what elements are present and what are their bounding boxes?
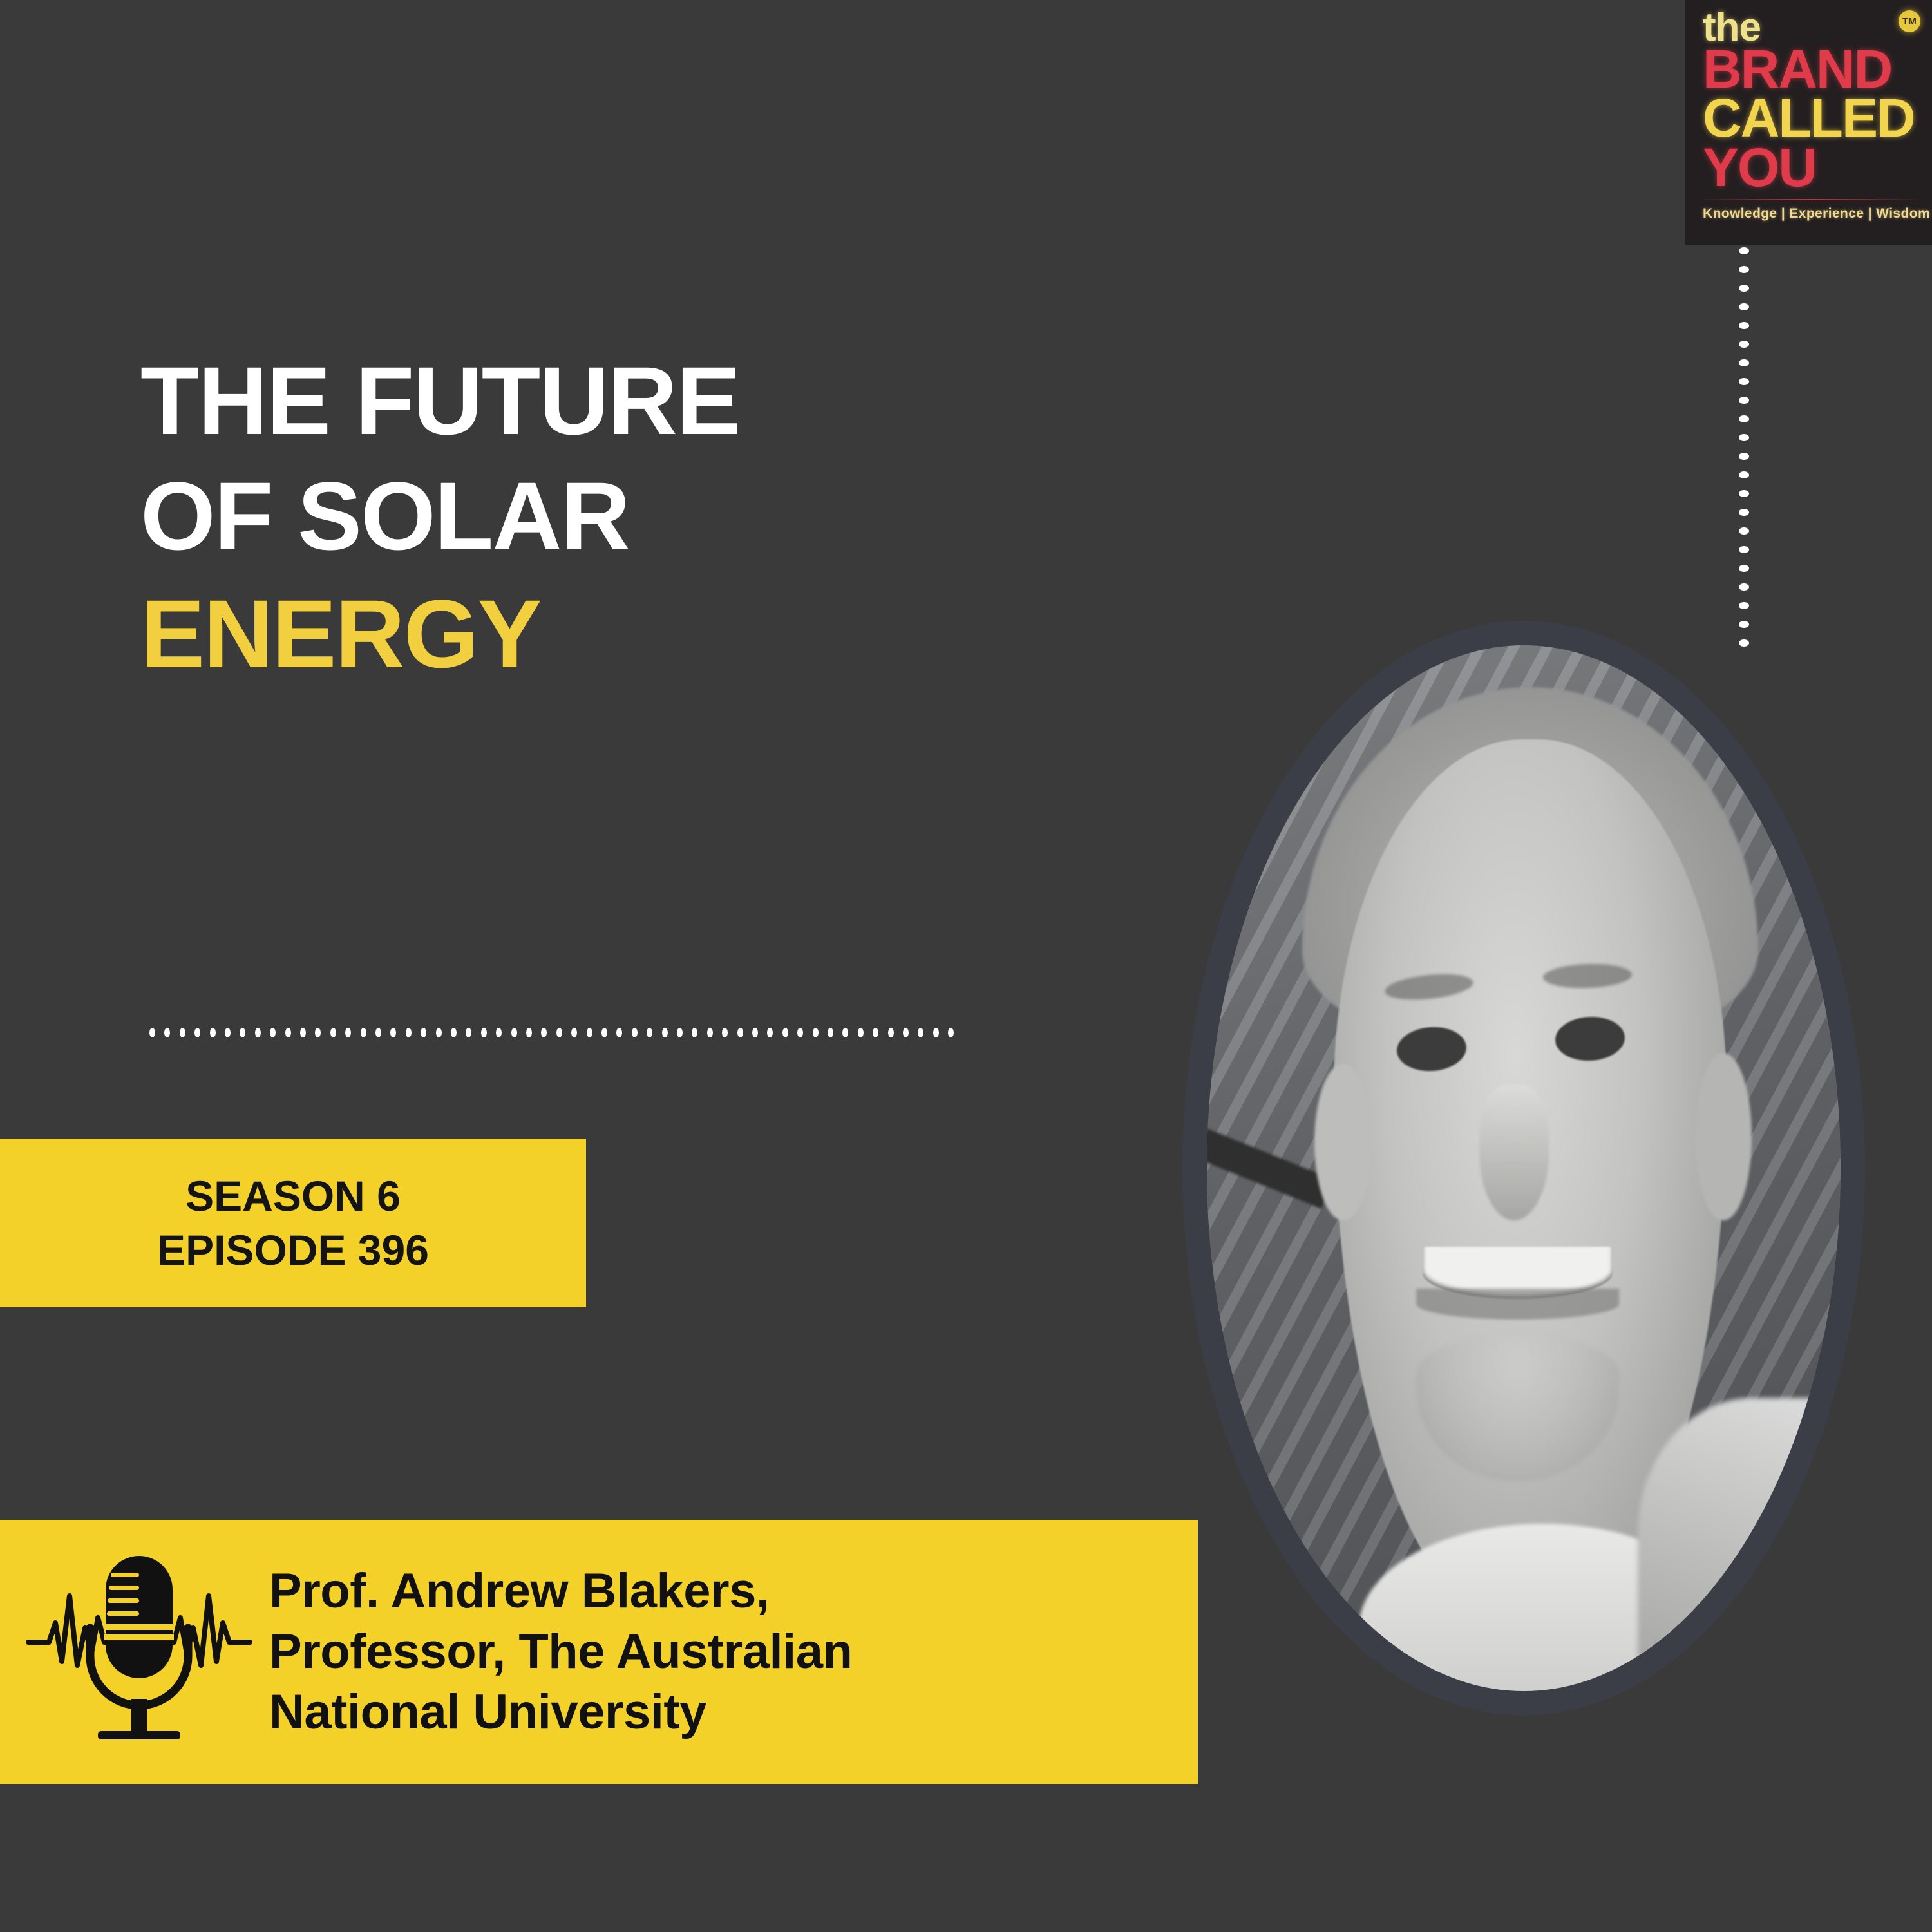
divider-dot: [797, 1028, 803, 1037]
logo-word-brand: BRAND: [1703, 46, 1918, 93]
connector-dot: [1739, 565, 1749, 572]
connector-dot: [1739, 453, 1749, 460]
divider-dot: [616, 1028, 622, 1037]
connector-dot: [1739, 285, 1749, 292]
logo-word-called: CALLED: [1703, 93, 1918, 143]
connector-dot: [1739, 341, 1749, 348]
episode-label: EPISODE 396: [157, 1229, 429, 1271]
connector-dot: [1739, 434, 1749, 441]
divider-dot: [903, 1028, 909, 1037]
divider-dot: [421, 1028, 426, 1037]
divider-dot: [315, 1028, 321, 1037]
divider-dot: [767, 1028, 773, 1037]
divider-dot: [677, 1028, 683, 1037]
guest-role-line-2: National University: [269, 1682, 852, 1743]
connector-dot: [1739, 359, 1749, 366]
season-episode-badge: SEASON 6 EPISODE 396: [0, 1139, 586, 1307]
portrait-ear-left: [1314, 1064, 1372, 1221]
divider-dot: [918, 1028, 923, 1037]
divider-dot: [752, 1028, 758, 1037]
divider-dot: [858, 1028, 864, 1037]
dotted-divider: [149, 1028, 961, 1034]
divider-dot: [722, 1028, 728, 1037]
divider-dot: [571, 1028, 577, 1037]
portrait-ear-right: [1695, 1053, 1752, 1220]
episode-title: THE FUTURE OF SOLAR ENERGY: [140, 352, 1171, 700]
divider-dot: [632, 1028, 638, 1037]
divider-dot: [375, 1028, 381, 1037]
divider-dot: [300, 1028, 306, 1037]
connector-dot: [1739, 509, 1749, 516]
divider-dot: [888, 1028, 894, 1037]
divider-dot: [873, 1028, 878, 1037]
divider-dot: [406, 1028, 412, 1037]
divider-dot: [481, 1028, 487, 1037]
trademark-icon: TM: [1899, 10, 1920, 32]
connector-dot: [1739, 247, 1749, 254]
divider-dot: [225, 1028, 231, 1037]
portrait-photo: [1207, 645, 1841, 1691]
divider-dot: [813, 1028, 819, 1037]
divider-dot: [737, 1028, 743, 1037]
title-line-2: OF SOLAR: [140, 467, 1171, 565]
divider-dot: [707, 1028, 713, 1037]
connector-dot: [1739, 397, 1749, 404]
divider-dot: [390, 1028, 396, 1037]
connector-dot: [1739, 471, 1749, 478]
divider-dot: [285, 1028, 291, 1037]
divider-dot: [361, 1028, 366, 1037]
divider-dot: [511, 1028, 517, 1037]
divider-dot: [587, 1028, 592, 1037]
connector-dot: [1739, 490, 1749, 497]
connector-dot: [1739, 378, 1749, 385]
microphone-waveform-icon: [23, 1546, 255, 1758]
divider-dot: [601, 1028, 607, 1037]
divider-dot: [692, 1028, 697, 1037]
divider-dot: [556, 1028, 562, 1037]
divider-dot: [782, 1028, 788, 1037]
title-line-3: ENERGY: [140, 585, 1171, 683]
divider-dot: [345, 1028, 351, 1037]
divider-dot: [330, 1028, 336, 1037]
divider-dot: [451, 1028, 457, 1037]
divider-dot: [647, 1028, 652, 1037]
brand-logo[interactable]: TM the BRAND CALLED YOU Knowledge | Expe…: [1685, 0, 1932, 245]
divider-dot: [180, 1028, 185, 1037]
divider-dot: [194, 1028, 200, 1037]
vertical-dotted-connector: [1739, 247, 1749, 665]
divider-dot: [164, 1028, 170, 1037]
divider-dot: [240, 1028, 245, 1037]
divider-dot: [466, 1028, 471, 1037]
guest-role-line-1: Professor, The Australian: [269, 1622, 852, 1682]
divider-dot: [828, 1028, 833, 1037]
connector-dot: [1739, 322, 1749, 329]
logo-word-you: YOU: [1703, 143, 1918, 193]
title-line-1: THE FUTURE: [140, 352, 1171, 450]
divider-dot: [436, 1028, 442, 1037]
divider-dot: [842, 1028, 848, 1037]
connector-dot: [1739, 583, 1749, 591]
divider-dot: [496, 1028, 502, 1037]
podcast-cover-art: TM the BRAND CALLED YOU Knowledge | Expe…: [0, 0, 1932, 1932]
divider-dot: [270, 1028, 276, 1037]
connector-dot: [1739, 602, 1749, 609]
logo-tagline: Knowledge | Experience | Wisdom: [1703, 206, 1918, 222]
guest-banner: Prof. Andrew Blakers, Professor, The Aus…: [0, 1520, 1198, 1784]
divider-dot: [255, 1028, 261, 1037]
guest-credit: Prof. Andrew Blakers, Professor, The Aus…: [269, 1561, 852, 1743]
season-label: SEASON 6: [185, 1175, 401, 1217]
guest-name: Prof. Andrew Blakers,: [269, 1561, 852, 1622]
divider-dot: [149, 1028, 155, 1037]
logo-divider: [1703, 199, 1918, 200]
connector-dot: [1739, 546, 1749, 553]
divider-dot: [662, 1028, 668, 1037]
divider-dot: [526, 1028, 532, 1037]
portrait-nose: [1479, 1084, 1549, 1220]
guest-portrait: [1182, 621, 1865, 1716]
divider-dot: [948, 1028, 954, 1037]
connector-dot: [1739, 527, 1749, 535]
divider-dot: [210, 1028, 216, 1037]
connector-dot: [1739, 415, 1749, 422]
divider-dot: [541, 1028, 547, 1037]
divider-dot: [933, 1028, 939, 1037]
connector-dot: [1739, 266, 1749, 273]
connector-dot: [1739, 303, 1749, 310]
